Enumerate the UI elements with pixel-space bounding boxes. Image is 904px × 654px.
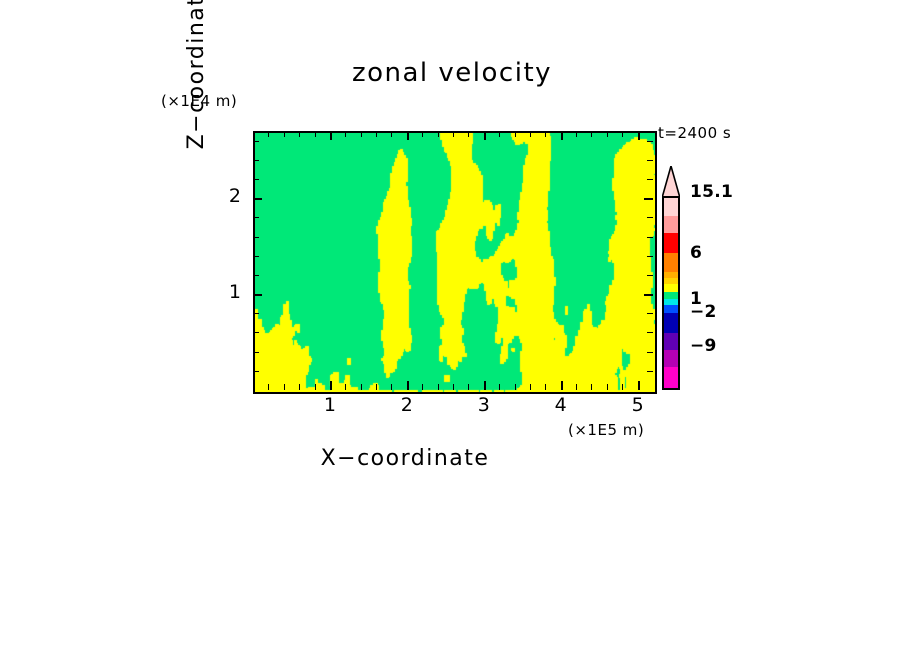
tick-x-top: [407, 131, 409, 140]
tick-y-right: [647, 256, 653, 257]
tick-y-left: [253, 332, 259, 333]
tick-x-bottom: [422, 384, 423, 390]
tick-label-x: 4: [546, 394, 576, 416]
tick-y-right: [644, 294, 653, 296]
colorbar-band: [664, 292, 678, 299]
plot-area: [253, 131, 657, 394]
colorbar-tick-label: 6: [690, 243, 702, 263]
tick-x-bottom: [391, 384, 392, 390]
tick-y-left: [253, 371, 259, 372]
colorbar-band: [664, 233, 678, 253]
tick-x-top: [438, 131, 439, 137]
tick-y-left: [253, 160, 259, 161]
tick-x-top: [268, 131, 269, 137]
tick-label-x: 5: [623, 394, 653, 416]
tick-x-bottom: [484, 381, 486, 390]
tick-x-top: [607, 131, 608, 137]
tick-y-right: [647, 371, 653, 372]
time-annotation: t=2400 s: [658, 124, 731, 142]
tick-x-bottom: [515, 384, 516, 390]
figure-canvas: zonal velocity (×1E4 m) (×1E5 m) X−coord…: [0, 0, 904, 654]
x-axis-title: X−coordinate: [0, 446, 904, 471]
tick-x-top: [391, 131, 392, 137]
tick-x-bottom: [299, 384, 300, 390]
tick-x-bottom: [607, 384, 608, 390]
tick-y-right: [647, 141, 653, 142]
page-title: zonal velocity: [0, 58, 904, 88]
tick-x-bottom: [561, 381, 563, 390]
tick-y-left: [253, 352, 259, 353]
tick-y-right: [647, 179, 653, 180]
tick-x-bottom: [361, 384, 362, 390]
colorbar-band: [664, 305, 678, 312]
tick-x-bottom: [376, 384, 377, 390]
tick-x-bottom: [284, 384, 285, 390]
tick-y-left: [253, 313, 259, 314]
tick-x-top: [453, 131, 454, 137]
tick-x-bottom: [268, 384, 269, 390]
tick-x-top: [345, 131, 346, 137]
tick-x-bottom: [330, 381, 332, 390]
tick-x-top: [591, 131, 592, 137]
y-axis-title: Z−coordinate: [182, 0, 212, 185]
colorbar-tick-label: −9: [690, 336, 717, 356]
colorbar-extend-arrow: [662, 166, 680, 198]
x-axis-title-text: X−coordinate: [321, 446, 490, 471]
tick-x-bottom: [576, 384, 577, 390]
velocity-field-heatmap: [255, 133, 655, 392]
colorbar-band: [664, 333, 678, 350]
tick-x-top: [361, 131, 362, 137]
tick-y-right: [644, 198, 653, 200]
tick-x-bottom: [468, 384, 469, 390]
colorbar-band: [664, 198, 678, 216]
tick-x-top: [499, 131, 500, 137]
colorbar-band: [664, 253, 678, 273]
x-axis-unit-label: (×1E5 m): [568, 421, 644, 439]
tick-label-x: 3: [469, 394, 499, 416]
tick-x-top: [561, 131, 563, 140]
tick-x-bottom: [438, 384, 439, 390]
tick-y-left: [253, 179, 259, 180]
tick-y-right: [647, 237, 653, 238]
tick-x-bottom: [545, 384, 546, 390]
tick-x-top: [622, 131, 623, 137]
tick-y-left: [253, 141, 259, 142]
tick-x-top: [515, 131, 516, 137]
tick-y-left: [253, 198, 262, 200]
colorbar-band: [664, 216, 678, 233]
tick-x-top: [299, 131, 300, 137]
tick-y-left: [253, 217, 259, 218]
colorbar-tick-label: −2: [690, 302, 717, 322]
tick-x-top: [284, 131, 285, 137]
tick-x-top: [315, 131, 316, 137]
tick-x-top: [376, 131, 377, 137]
tick-x-bottom: [499, 384, 500, 390]
colorbar-band: [664, 313, 678, 334]
tick-y-right: [647, 313, 653, 314]
tick-y-right: [647, 160, 653, 161]
tick-x-bottom: [345, 384, 346, 390]
tick-label-y: 2: [211, 185, 241, 207]
tick-x-bottom: [622, 384, 623, 390]
tick-x-top: [545, 131, 546, 137]
tick-y-right: [647, 217, 653, 218]
tick-y-right: [647, 352, 653, 353]
tick-x-bottom: [453, 384, 454, 390]
tick-x-bottom: [315, 384, 316, 390]
tick-y-left: [253, 275, 259, 276]
tick-x-top: [530, 131, 531, 137]
tick-label-x: 2: [392, 394, 422, 416]
tick-x-top: [484, 131, 486, 140]
tick-x-top: [638, 131, 640, 140]
tick-label-y: 1: [211, 281, 241, 303]
tick-label-x: 1: [315, 394, 345, 416]
tick-x-top: [330, 131, 332, 140]
tick-x-bottom: [530, 384, 531, 390]
tick-x-top: [422, 131, 423, 137]
tick-x-bottom: [591, 384, 592, 390]
colorbar-band: [664, 284, 678, 291]
tick-y-left: [253, 294, 262, 296]
tick-x-bottom: [407, 381, 409, 390]
tick-y-left: [253, 256, 259, 257]
colorbar: [662, 196, 680, 390]
tick-x-bottom: [638, 381, 640, 390]
tick-x-top: [468, 131, 469, 137]
tick-y-left: [253, 237, 259, 238]
tick-y-right: [647, 332, 653, 333]
colorbar-tick-label: 15.1: [690, 182, 733, 202]
tick-x-top: [576, 131, 577, 137]
colorbar-band: [664, 367, 678, 388]
tick-y-right: [647, 275, 653, 276]
colorbar-band: [664, 350, 678, 367]
